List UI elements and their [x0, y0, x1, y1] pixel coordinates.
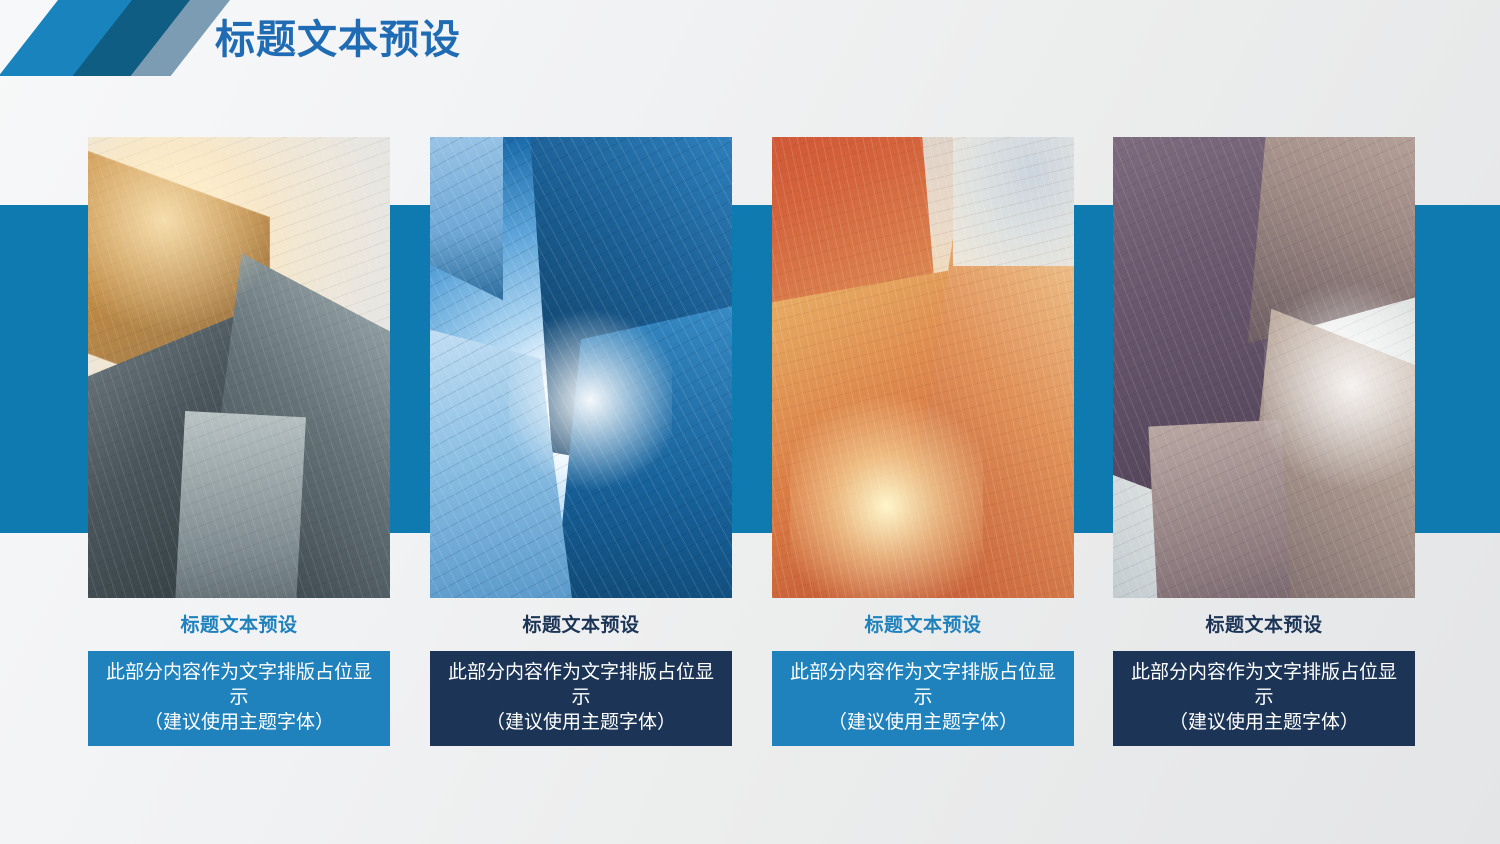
card-image-blue — [430, 137, 732, 598]
card-body-box: 此部分内容作为文字排版占位显 示 （建议使用主题字体） — [88, 651, 390, 746]
card-body-line-3: （建议使用主题字体） — [1119, 710, 1409, 735]
photo-sun-glow — [509, 294, 672, 506]
card-heading: 标题文本预设 — [1113, 616, 1415, 635]
card-heading: 标题文本预设 — [430, 616, 732, 635]
slide-canvas: 标题文本预设 标题文本预设 此部分内容作为文字排版占位显 示 （建议使用主题字体… — [0, 0, 1500, 844]
card-heading: 标题文本预设 — [772, 616, 1074, 635]
photo-sun-glow — [790, 377, 983, 598]
card-body-box: 此部分内容作为文字排版占位显 示 （建议使用主题字体） — [772, 651, 1074, 746]
card-body-line-1: 此部分内容作为文字排版占位显 — [436, 660, 726, 685]
card-body-line-3: （建议使用主题字体） — [778, 710, 1068, 735]
photo-sun-glow — [1264, 266, 1415, 506]
card-body-line-1: 此部分内容作为文字排版占位显 — [778, 660, 1068, 685]
card-body-line-2: 示 — [94, 685, 384, 710]
content-card: 标题文本预设 此部分内容作为文字排版占位显 示 （建议使用主题字体） — [772, 137, 1074, 746]
card-image-purple — [1113, 137, 1415, 598]
card-body-line-2: 示 — [1119, 685, 1409, 710]
card-body-line-1: 此部分内容作为文字排版占位显 — [94, 660, 384, 685]
content-card: 标题文本预设 此部分内容作为文字排版占位显 示 （建议使用主题字体） — [1113, 137, 1415, 746]
card-heading: 标题文本预设 — [88, 616, 390, 635]
card-image-sepia — [88, 137, 390, 598]
card-image-orange — [772, 137, 1074, 598]
photo-sun-glow — [88, 137, 269, 340]
content-card: 标题文本预设 此部分内容作为文字排版占位显 示 （建议使用主题字体） — [88, 137, 390, 746]
card-body-line-3: （建议使用主题字体） — [94, 710, 384, 735]
card-body-line-3: （建议使用主题字体） — [436, 710, 726, 735]
card-body-line-1: 此部分内容作为文字排版占位显 — [1119, 660, 1409, 685]
content-card: 标题文本预设 此部分内容作为文字排版占位显 示 （建议使用主题字体） — [430, 137, 732, 746]
card-body-line-2: 示 — [778, 685, 1068, 710]
card-body-box: 此部分内容作为文字排版占位显 示 （建议使用主题字体） — [1113, 651, 1415, 746]
page-title: 标题文本预设 — [215, 20, 461, 60]
card-body-line-2: 示 — [436, 685, 726, 710]
card-body-box: 此部分内容作为文字排版占位显 示 （建议使用主题字体） — [430, 651, 732, 746]
